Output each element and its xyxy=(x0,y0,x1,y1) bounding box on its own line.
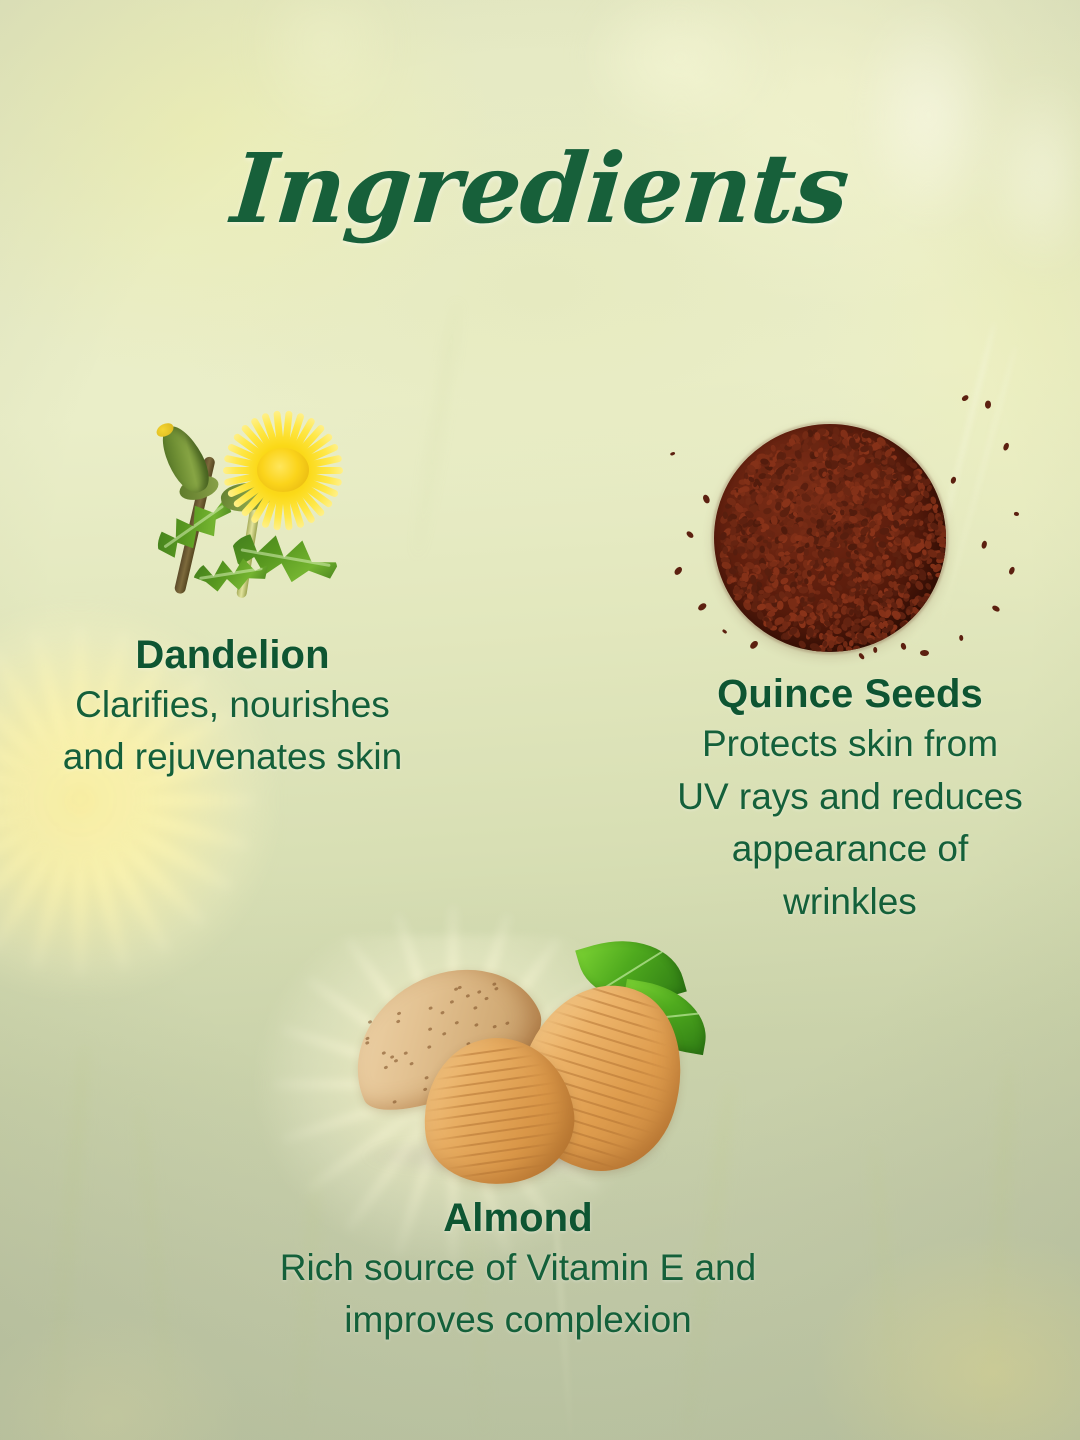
quince-seed-pile-edge xyxy=(714,424,946,652)
description-line: appearance of xyxy=(620,823,1080,876)
ingredient-quince-seeds: Quince Seeds Protects skin from UV rays … xyxy=(620,672,1080,929)
almond-image xyxy=(345,940,705,1192)
ingredients-poster: Ingredients xyxy=(0,0,1080,1440)
ingredient-description: Rich source of Vitamin E and improves co… xyxy=(218,1242,818,1347)
ingredient-almond: Almond Rich source of Vitamin E and impr… xyxy=(218,1196,818,1347)
ingredient-dandelion: Dandelion Clarifies, nourishes and rejuv… xyxy=(0,633,465,784)
description-line: wrinkles xyxy=(620,876,1080,929)
ingredient-name: Dandelion xyxy=(0,633,465,679)
page-title: Ingredients xyxy=(0,139,1080,240)
dandelion-flower-head xyxy=(219,417,347,523)
quince-seeds-image xyxy=(662,392,1022,682)
description-line: and rejuvenates skin xyxy=(0,731,465,784)
description-line: improves complexion xyxy=(218,1294,818,1347)
ingredient-name: Almond xyxy=(218,1196,818,1242)
description-line: Clarifies, nourishes xyxy=(0,679,465,732)
description-line: UV rays and reduces xyxy=(620,771,1080,824)
ingredient-description: Protects skin from UV rays and reduces a… xyxy=(620,718,1080,930)
ingredient-name: Quince Seeds xyxy=(620,672,1080,718)
dandelion-flower-center xyxy=(257,448,309,492)
ingredient-description: Clarifies, nourishes and rejuvenates ski… xyxy=(0,679,465,784)
description-line: Protects skin from xyxy=(620,718,1080,771)
dandelion-image xyxy=(145,405,345,620)
description-line: Rich source of Vitamin E and xyxy=(218,1242,818,1295)
